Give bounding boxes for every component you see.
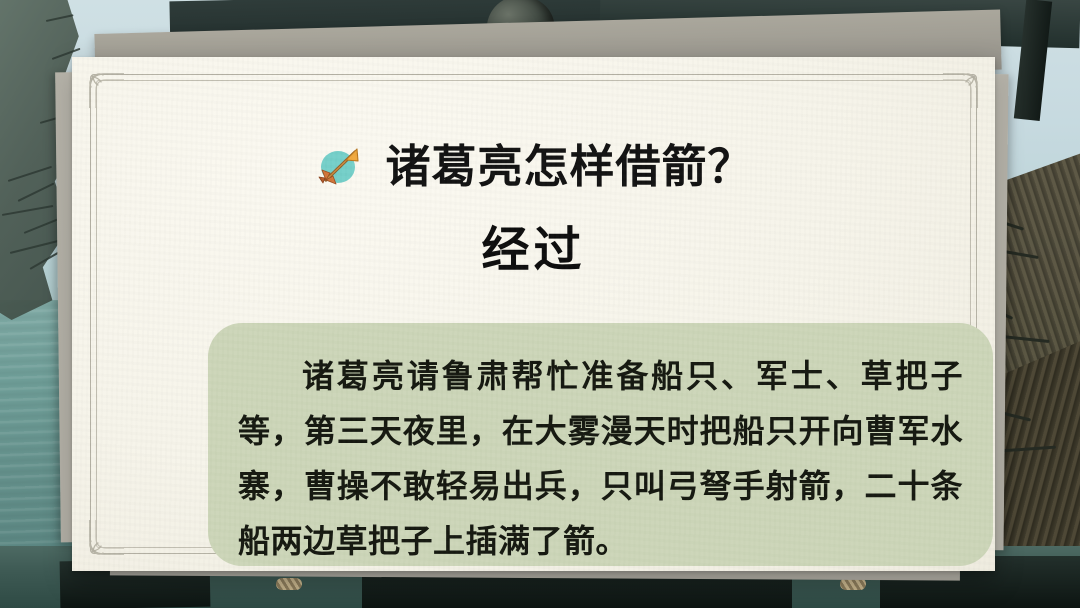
bow-and-arrow-icon (313, 139, 367, 193)
rope-icon (276, 578, 302, 590)
page-title: 诸葛亮怎样借箭？ (385, 144, 753, 189)
section-subtitle: 经过 (120, 227, 947, 275)
body-paragraph: 诸葛亮请鲁肃帮忙准备船只、军士、草把子等，第三天夜里，在大雾漫天时把船只开向曹军… (238, 349, 963, 569)
content-card: 诸葛亮怎样借箭？ 经过 诸葛亮请鲁肃帮忙准备船只、军士、草把子等，第三天夜里，在… (72, 57, 995, 571)
slide-stage: 诸葛亮怎样借箭？ 经过 诸葛亮请鲁肃帮忙准备船只、军士、草把子等，第三天夜里，在… (0, 0, 1080, 608)
card-content: 诸葛亮怎样借箭？ 经过 诸葛亮请鲁肃帮忙准备船只、军士、草把子等，第三天夜里，在… (120, 97, 947, 531)
body-text-panel: 诸葛亮请鲁肃帮忙准备船只、军士、草把子等，第三天夜里，在大雾漫天时把船只开向曹军… (208, 323, 993, 566)
title-row: 诸葛亮怎样借箭？ (120, 139, 947, 193)
